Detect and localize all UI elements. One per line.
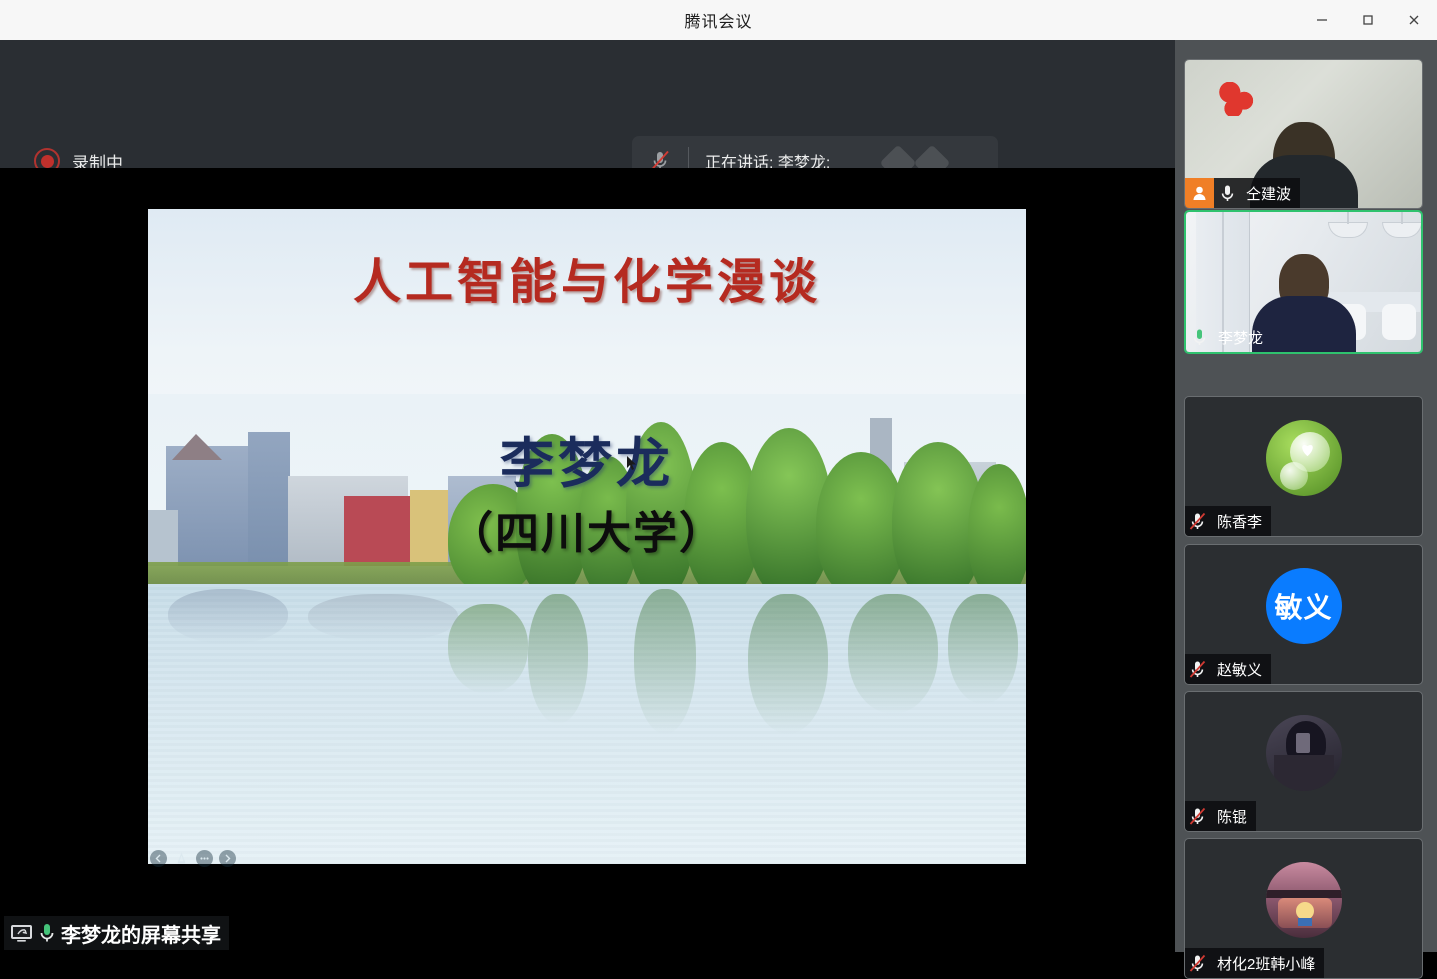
participant-nameplate: 赵敏义 <box>1185 654 1271 684</box>
participant-nameplate: 仝建波 <box>1185 178 1300 208</box>
mic-on-icon <box>1214 184 1240 203</box>
screen-share-icon <box>10 923 33 943</box>
participant-nameplate: 李梦龙 <box>1186 322 1272 352</box>
share-owner-text: 李梦龙的屏幕共享 <box>61 919 221 948</box>
participant-name: 赵敏义 <box>1217 659 1262 680</box>
slide-title: 人工智能与化学漫谈 <box>148 242 1026 312</box>
avatar <box>1266 862 1342 938</box>
participants-sidebar[interactable]: 仝建波 李梦龙 <box>1175 40 1437 952</box>
presentation-slide[interactable]: 人工智能与化学漫谈 李梦龙 （四川大学） <box>148 209 1026 864</box>
window-controls <box>1299 0 1437 40</box>
participant-name: 陈锟 <box>1217 806 1247 827</box>
avatar: 敏义 <box>1266 568 1342 644</box>
participant-name: 材化2班韩小峰 <box>1217 953 1315 974</box>
avatar <box>1266 715 1342 791</box>
ppt-next-button[interactable] <box>219 850 236 867</box>
ppt-more-button[interactable] <box>196 850 213 867</box>
mic-muted-icon <box>1185 954 1211 973</box>
participant-tile[interactable]: 仝建波 <box>1184 59 1423 209</box>
participant-tile[interactable]: 敏义 赵敏义 <box>1184 544 1423 685</box>
participant-nameplate: 陈香李 <box>1185 506 1271 536</box>
participant-name: 陈香李 <box>1217 511 1262 532</box>
close-button[interactable] <box>1391 0 1437 40</box>
ppt-navigation-controls[interactable] <box>150 850 236 867</box>
window-titlebar: 腾讯会议 <box>0 0 1437 40</box>
slide-presenter-name: 李梦龙 <box>148 419 1026 498</box>
participant-nameplate: 陈锟 <box>1185 801 1256 831</box>
participant-name: 李梦龙 <box>1218 327 1263 348</box>
participant-tile[interactable]: 陈香李 <box>1184 396 1423 537</box>
meeting-topbar <box>0 40 1175 168</box>
participant-tile[interactable]: 李梦龙 <box>1184 210 1423 354</box>
ppt-prev-button[interactable] <box>150 850 167 867</box>
window-title: 腾讯会议 <box>684 8 752 32</box>
mic-on-icon <box>1186 328 1212 347</box>
slide-organization: （四川大学） <box>148 497 1026 561</box>
host-badge-icon <box>1185 178 1214 208</box>
avatar <box>1266 420 1342 496</box>
participant-nameplate: 材化2班韩小峰 <box>1185 948 1324 978</box>
participant-tile[interactable]: 陈锟 <box>1184 691 1423 832</box>
participant-tile[interactable]: 材化2班韩小峰 <box>1184 838 1423 979</box>
maximize-button[interactable] <box>1345 0 1391 40</box>
share-owner-label: 李梦龙的屏幕共享 <box>4 916 229 950</box>
mic-on-icon <box>38 922 56 944</box>
shared-screen-area[interactable]: 人工智能与化学漫谈 李梦龙 （四川大学） <box>0 168 1175 952</box>
mouse-cursor-icon <box>627 456 637 471</box>
mic-muted-icon <box>1185 807 1211 826</box>
mic-muted-icon <box>1185 660 1211 679</box>
meeting-stage: 录制中 正在讲话: 李梦龙; <box>0 40 1175 952</box>
avatar-initials: 敏义 <box>1274 586 1332 626</box>
mic-muted-icon <box>1185 512 1211 531</box>
ppt-pen-button[interactable] <box>173 850 190 867</box>
minimize-button[interactable] <box>1299 0 1345 40</box>
participant-name: 仝建波 <box>1246 183 1291 204</box>
